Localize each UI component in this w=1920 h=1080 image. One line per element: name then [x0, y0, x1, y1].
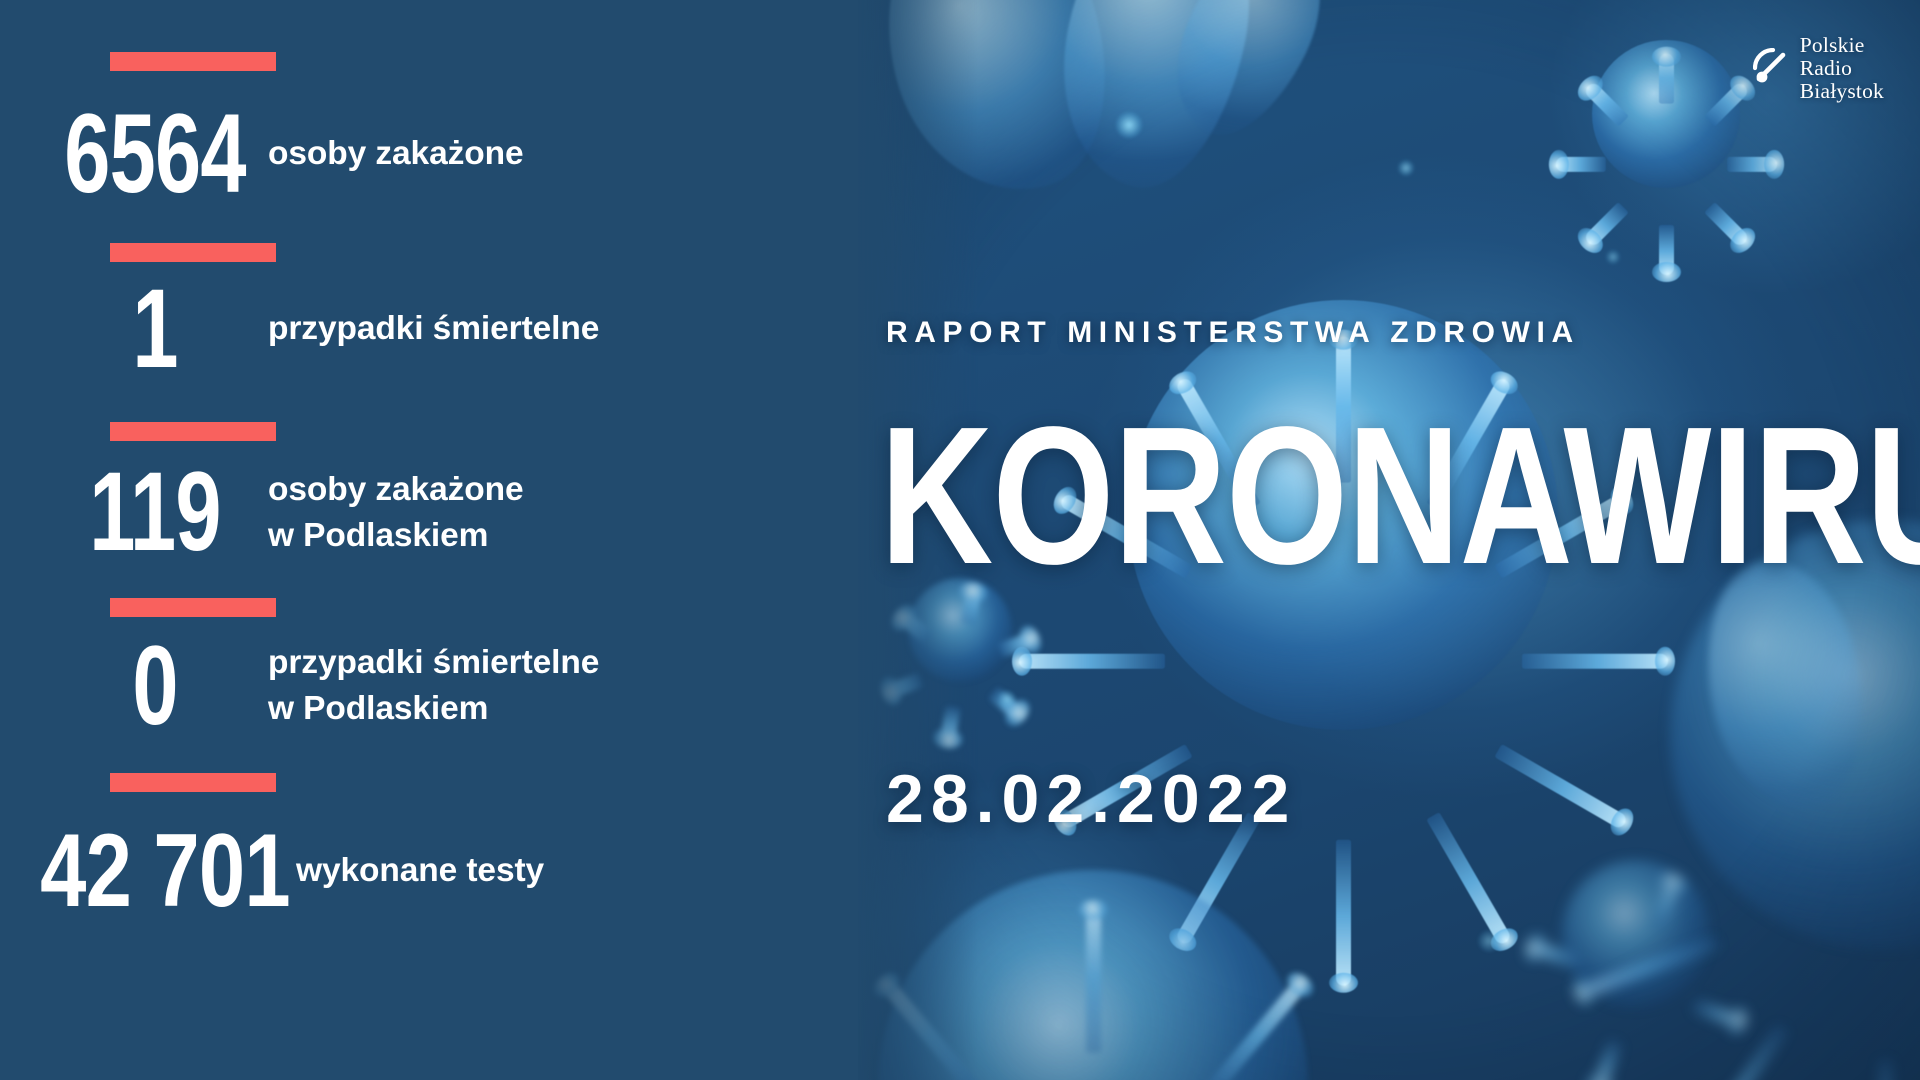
stat-value: 42 701	[33, 818, 297, 924]
stat-value: 1	[40, 272, 269, 386]
infographic-canvas: 6564 osoby zakażone 1 przypadki śmiertel…	[0, 0, 1920, 1080]
hero-text-block: RAPORT MINISTERSTWA ZDROWIA KORONAWIRUS …	[886, 0, 1920, 1080]
polskie-radio-bialystok-logo: Polskie Radio Białystok	[1753, 34, 1884, 102]
stat-row: 6564 osoby zakażone	[0, 52, 858, 211]
stat-body: 6564 osoby zakażone	[0, 97, 858, 211]
logo-wordmark: Polskie Radio Białystok	[1800, 34, 1884, 102]
logo-line-3: Białystok	[1800, 80, 1884, 103]
stat-body: 119 osoby zakażone w Podlaskiem	[0, 455, 858, 569]
hero-kicker: RAPORT MINISTERSTWA ZDROWIA	[886, 316, 1580, 350]
accent-dash	[110, 598, 276, 617]
stat-value: 0	[40, 629, 269, 743]
stat-row: 1 przypadki śmiertelne	[0, 243, 858, 386]
stat-value: 119	[40, 455, 269, 569]
stat-row: 42 701 wykonane testy	[0, 773, 858, 924]
hero-panel: RAPORT MINISTERSTWA ZDROWIA KORONAWIRUS …	[858, 0, 1920, 1080]
stat-body: 42 701 wykonane testy	[0, 818, 858, 924]
logo-line-1: Polskie	[1800, 34, 1884, 57]
stat-label: przypadki śmiertelne w Podlaskiem	[268, 640, 599, 732]
radio-wave-logo-icon	[1753, 48, 1791, 88]
stat-body: 0 przypadki śmiertelne w Podlaskiem	[0, 629, 858, 743]
stat-body: 1 przypadki śmiertelne	[0, 272, 858, 386]
accent-dash	[110, 52, 276, 71]
stat-label: osoby zakażone w Podlaskiem	[268, 467, 524, 559]
hero-headline: KORONAWIRUS	[880, 398, 1920, 594]
logo-line-2: Radio	[1800, 57, 1884, 80]
stat-label: osoby zakażone	[268, 131, 524, 177]
accent-dash	[110, 773, 276, 792]
statistics-panel: 6564 osoby zakażone 1 przypadki śmiertel…	[0, 0, 858, 1080]
stat-label: przypadki śmiertelne	[268, 306, 599, 352]
stat-value: 6564	[40, 97, 269, 211]
stat-row: 0 przypadki śmiertelne w Podlaskiem	[0, 598, 858, 743]
stat-row: 119 osoby zakażone w Podlaskiem	[0, 422, 858, 569]
hero-date: 28.02.2022	[886, 760, 1296, 838]
accent-dash	[110, 243, 276, 262]
accent-dash	[110, 422, 276, 441]
stat-label: wykonane testy	[296, 848, 544, 894]
